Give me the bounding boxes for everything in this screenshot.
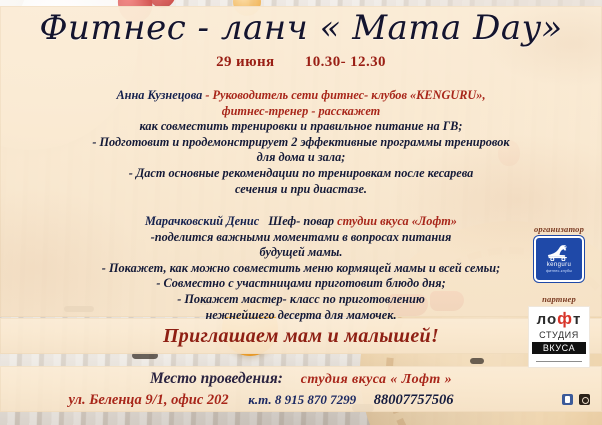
loft-word-right: т	[573, 311, 581, 328]
speaker-1-name: Анна Кузнецова	[116, 88, 202, 102]
event-datetime: 29 июня 10.30- 12.30	[0, 54, 602, 71]
instagram-icon[interactable]	[579, 394, 590, 405]
speaker-2-name: Марачковский Денис	[145, 214, 259, 228]
partner-block: партнер лофт СТУДИЯ ВКУСА	[522, 294, 596, 368]
place-value: студия вкуса « Лофт »	[301, 372, 452, 387]
loft-word-left: ло	[537, 311, 558, 328]
speaker-1-bullet: для дома и зала;	[14, 150, 588, 166]
partner-label: партнер	[522, 294, 596, 304]
speaker-2-bullet: нежнейшего десерта для мамочек.	[14, 308, 588, 324]
organizer-block: организатор kenguru фитнес-клубы	[522, 224, 596, 282]
organizer-label: организатор	[522, 224, 596, 234]
speaker-1-bullet: сечения и при диастазе.	[14, 182, 588, 198]
social-icons	[562, 394, 590, 405]
loft-word-accent: ф	[557, 309, 573, 328]
speaker-1-role: - Руководитель сети фитнес- клубов «KENG…	[205, 88, 485, 102]
speaker-2-bullet: будущей мамы.	[14, 245, 588, 261]
poster-title: Фитнес - ланч « Mama Day»	[0, 8, 602, 48]
speaker-1-bullet: - Даст основные рекомендации по трениров…	[14, 166, 588, 182]
event-date: 29 июня	[216, 54, 274, 70]
place-label: Место проведения:	[150, 370, 283, 387]
speaker-2-bullet: - Совместно с участницами приготовит блю…	[14, 276, 588, 292]
speaker-block-1: Анна Кузнецова - Руководитель сети фитне…	[14, 88, 588, 197]
loft-line2: СТУДИЯ	[532, 329, 586, 341]
speaker-2-bullet: -поделится важными моментами в вопросах …	[14, 230, 588, 246]
mobile-phone[interactable]: к.т. 8 915 870 7299	[248, 392, 356, 407]
speaker-1-headline: Анна Кузнецова - Руководитель сети фитне…	[14, 88, 588, 104]
kenguru-wordmark: kenguru	[547, 262, 571, 269]
speaker-2-role-accent: студии вкуса «Лофт»	[337, 214, 457, 228]
speaker-block-2: Марачковский Денис Шеф- повар студии вку…	[14, 214, 588, 323]
address-text: ул. Беленца 9/1, офис 202	[68, 392, 228, 408]
speaker-2-headline: Марачковский Денис Шеф- повар студии вку…	[14, 214, 588, 230]
poster-root: Фитнес - ланч « Mama Day» 29 июня 10.30-…	[0, 0, 602, 425]
tollfree-phone[interactable]: 88007757506	[374, 392, 454, 408]
contacts-line: ул. Беленца 9/1, офис 202 к.т. 8 915 870…	[0, 392, 522, 409]
loft-divider	[536, 361, 582, 362]
speaker-1-bullet: - Подготовит и продемонстрирует 2 эффект…	[14, 135, 588, 151]
vk-icon[interactable]	[562, 394, 573, 405]
event-time: 10.30- 12.30	[305, 54, 386, 70]
speaker-1-role-line2: фитнес-тренер - расскажет	[14, 104, 588, 120]
kangaroo-icon	[546, 244, 572, 261]
invite-text: Приглашаем мам и малышей!	[0, 325, 602, 348]
speaker-1-bullet: как совместить тренировки и правильное п…	[14, 119, 588, 135]
kenguru-subtitle: фитнес-клубы	[546, 269, 572, 274]
loft-line3: ВКУСА	[532, 342, 586, 354]
speaker-2-bullet: - Покажет мастер- класс по приготовлению	[14, 292, 588, 308]
place-line: Место проведения: студия вкуса « Лофт »	[0, 370, 602, 388]
speaker-2-bullet: - Покажет, как можно совместить меню кор…	[14, 261, 588, 277]
kenguru-logo[interactable]: kenguru фитнес-клубы	[534, 236, 584, 282]
loft-wordmark: лофт	[532, 311, 586, 328]
loft-logo[interactable]: лофт СТУДИЯ ВКУСА	[528, 306, 590, 368]
speaker-2-role: Шеф- повар	[268, 214, 334, 228]
